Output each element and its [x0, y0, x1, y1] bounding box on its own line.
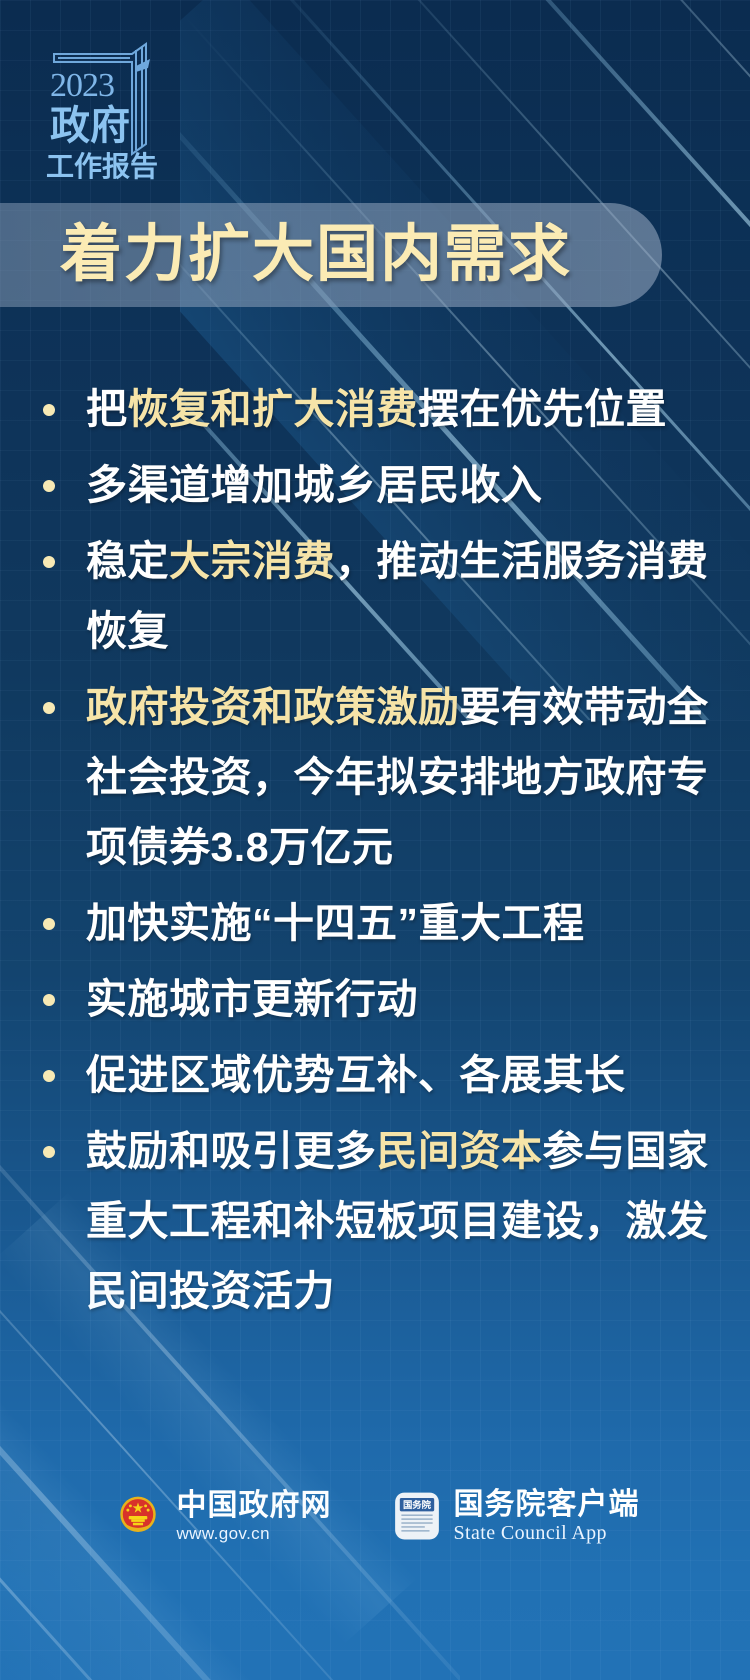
title-banner: 着力扩大国内需求	[0, 203, 662, 307]
list-item: 促进区域优势互补、各展其长	[0, 1040, 750, 1110]
list-item: 加快实施“十四五”重大工程	[0, 888, 750, 958]
state-council-app-icon: 国务院	[392, 1491, 442, 1541]
brand-label-en: www.gov.cn	[177, 1525, 332, 1543]
brand-label-en: State Council App	[454, 1523, 640, 1544]
item-text: 摆在优先位置	[418, 386, 667, 432]
list-item: 稳定大宗消费，推动生活服务消费恢复	[0, 526, 750, 666]
item-text: 多渠道增加城乡居民收入	[86, 462, 543, 508]
bullet-dot-icon	[43, 1070, 55, 1082]
svg-text:2023: 2023	[50, 67, 114, 104]
list-item: 把恢复和扩大消费摆在优先位置	[0, 374, 750, 444]
policy-list: 把恢复和扩大消费摆在优先位置多渠道增加城乡居民收入稳定大宗消费，推动生活服务消费…	[0, 374, 750, 1332]
svg-text:工作报告: 工作报告	[46, 151, 158, 182]
page-title: 着力扩大国内需求	[60, 224, 572, 286]
highlighted-text: 恢复和扩大消费	[128, 386, 419, 432]
item-text: 把	[86, 386, 128, 432]
highlighted-text: 民间资本	[377, 1128, 543, 1174]
brand-gov-cn[interactable]: 中国政府网 www.gov.cn	[111, 1489, 332, 1543]
bullet-dot-icon	[43, 1146, 55, 1158]
footer-brands: 中国政府网 www.gov.cn 国务院 国务院客户端 State Coun	[0, 1489, 750, 1545]
item-text: 实施城市更新行动	[86, 976, 418, 1022]
list-item: 实施城市更新行动	[0, 964, 750, 1034]
report-logo: 2023 政府 工作报告	[36, 34, 166, 184]
highlighted-text: 政府投资和政策激励	[86, 684, 460, 730]
list-item: 鼓励和吸引更多民间资本参与国家重大工程和补短板项目建设，激发民间投资活力	[0, 1116, 750, 1326]
book-icon: 2023 政府 工作报告	[36, 34, 166, 184]
highlighted-text: 大宗消费	[169, 538, 335, 584]
national-emblem-icon	[111, 1489, 165, 1543]
poster-root: 2023 政府 工作报告 着力扩大国内需求 把恢复和扩大消费摆在优先位置多渠道增…	[0, 0, 750, 1680]
bullet-dot-icon	[43, 556, 55, 568]
brand-state-council-app[interactable]: 国务院 国务院客户端 State Council App	[392, 1489, 640, 1545]
brand-label-cn: 中国政府网	[177, 1490, 332, 1522]
bullet-dot-icon	[43, 404, 55, 416]
item-text: 稳定	[86, 538, 169, 584]
bullet-dot-icon	[43, 480, 55, 492]
item-text: 加快实施“十四五”重大工程	[86, 900, 585, 946]
list-item: 多渠道增加城乡居民收入	[0, 450, 750, 520]
bullet-dot-icon	[43, 994, 55, 1006]
item-text: 促进区域优势互补、各展其长	[86, 1052, 626, 1098]
bullet-dot-icon	[43, 918, 55, 930]
item-text: 鼓励和吸引更多	[86, 1128, 377, 1174]
bullet-dot-icon	[43, 702, 55, 714]
brand-label-cn: 国务院客户端	[454, 1489, 640, 1521]
svg-text:国务院: 国务院	[402, 1499, 431, 1510]
svg-text:政府: 政府	[50, 104, 130, 148]
list-item: 政府投资和政策激励要有效带动全社会投资，今年拟安排地方政府专项债券3.8万亿元	[0, 672, 750, 882]
